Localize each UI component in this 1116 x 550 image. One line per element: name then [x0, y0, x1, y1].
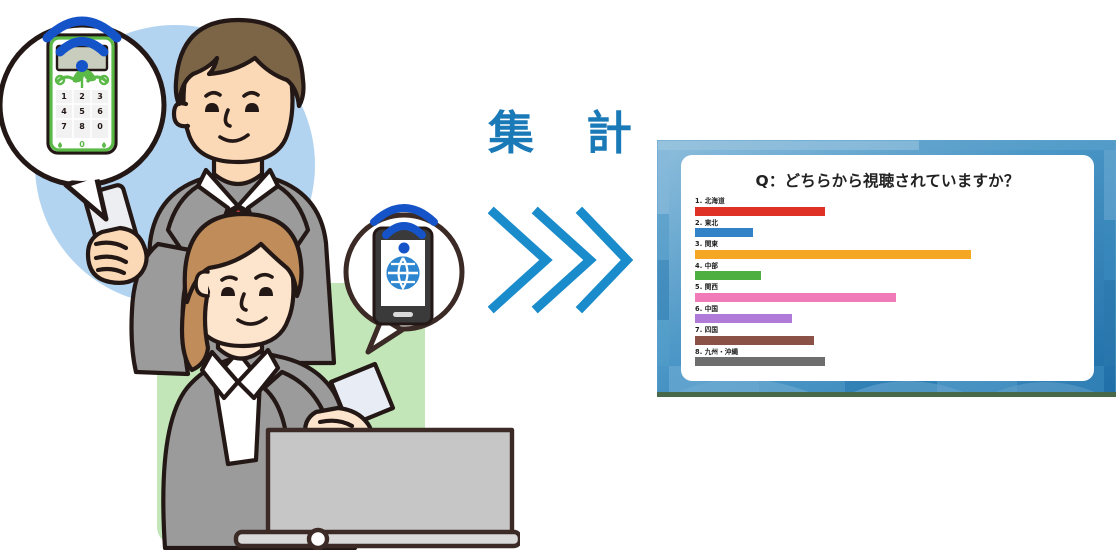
bar-row: 1. 北海道: [695, 197, 1083, 219]
bar-category-label: 6. 中国: [695, 305, 1083, 313]
bar-category-label: 4. 中部: [695, 262, 1083, 270]
chart-title: Q：どちらから視聴されていますか？: [681, 169, 1094, 191]
headline-shukei: 集 計: [470, 110, 650, 156]
bar-row: 7. 四国: [695, 326, 1083, 348]
center-annotation: 集 計: [470, 110, 650, 340]
bar-fill: [695, 357, 825, 366]
svg-text:6: 6: [97, 107, 103, 116]
svg-text:3: 3: [97, 92, 103, 101]
bar-track: [695, 228, 1083, 237]
bar-fill: [695, 293, 896, 302]
bar-fill: [695, 271, 761, 280]
bar-row: 4. 中部: [695, 262, 1083, 284]
bar-track: [695, 250, 1083, 259]
monitor-bottom-edge: [657, 392, 1116, 397]
bar-row: 6. 中国: [695, 305, 1083, 327]
bar-track: [695, 357, 1083, 366]
bar-row: 8. 九州・沖縄: [695, 348, 1083, 370]
svg-text:1: 1: [61, 92, 67, 101]
globe-icon: [388, 258, 418, 288]
bar-chart: 1. 北海道2. 東北3. 関東4. 中部5. 関西6. 中国7. 四国8. 九…: [695, 197, 1083, 369]
svg-text:2: 2: [79, 92, 85, 101]
bar-fill: [695, 336, 814, 345]
bar-track: [695, 293, 1083, 302]
chevron-arrows-svg: [488, 205, 633, 315]
bar-track: [695, 271, 1083, 280]
bar-fill: [695, 314, 792, 323]
bar-row: 3. 関東: [695, 240, 1083, 262]
bar-track: [695, 336, 1083, 345]
chevron-right-icon: [494, 213, 627, 307]
svg-text:0: 0: [97, 122, 103, 131]
svg-text:5: 5: [79, 107, 85, 116]
bar-category-label: 7. 四国: [695, 326, 1083, 334]
bar-track: [695, 207, 1083, 216]
bar-category-label: 8. 九州・沖縄: [695, 348, 1083, 356]
svg-text:4: 4: [61, 107, 67, 116]
svg-text:7: 7: [61, 122, 67, 131]
bar-category-label: 2. 東北: [695, 219, 1083, 227]
wifi-dot-2: [399, 243, 410, 254]
bar-row: 2. 東北: [695, 219, 1083, 241]
bar-track: [695, 314, 1083, 323]
bar-category-label: 3. 関東: [695, 240, 1083, 248]
bar-category-label: 5. 関西: [695, 283, 1083, 291]
svg-text:0: 0: [79, 140, 85, 149]
illustration-svg: 123 456 780 0: [0, 0, 520, 550]
wifi-dot: [76, 60, 88, 72]
infographic-canvas: 123 456 780 0: [0, 0, 1116, 550]
bar-fill: [695, 250, 971, 259]
chevron-arrows: [488, 205, 633, 315]
people-illustration: 123 456 780 0: [0, 0, 520, 550]
slide-card: Q：どちらから視聴されていますか？ 1. 北海道2. 東北3. 関東4. 中部5…: [681, 155, 1094, 381]
bar-category-label: 1. 北海道: [695, 197, 1083, 205]
bar-fill: [695, 207, 825, 216]
bar-fill: [695, 228, 753, 237]
bar-row: 5. 関西: [695, 283, 1083, 305]
svg-text:8: 8: [79, 122, 85, 131]
laptop: [236, 430, 520, 548]
presentation-monitor: Q：どちらから視聴されていますか？ 1. 北海道2. 東北3. 関東4. 中部5…: [657, 140, 1116, 396]
